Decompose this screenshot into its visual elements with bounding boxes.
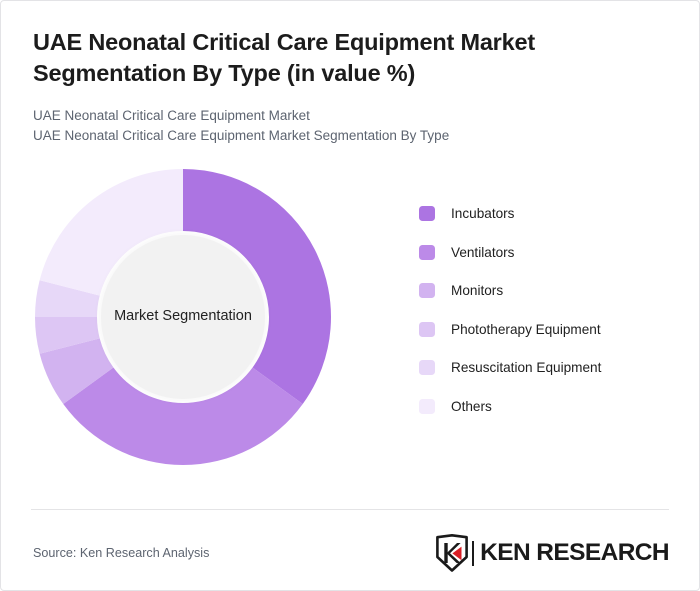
chart-body: Market Segmentation IncubatorsVentilator… (1, 147, 699, 477)
legend-label: Incubators (451, 206, 514, 221)
legend-swatch-icon (419, 206, 435, 221)
legend-item[interactable]: Others (419, 387, 669, 426)
chart-footer: Source: Ken Research Analysis KEN RESEAR… (1, 523, 699, 583)
legend-label: Monitors (451, 283, 503, 298)
logo-separator (472, 541, 474, 566)
legend-swatch-icon (419, 399, 435, 414)
legend-item[interactable]: Incubators (419, 195, 669, 234)
legend-item[interactable]: Ventilators (419, 233, 669, 272)
chart-card: UAE Neonatal Critical Care Equipment Mar… (0, 0, 700, 591)
subtitle-primary: UAE Neonatal Critical Care Equipment Mar… (33, 106, 669, 127)
subtitle-block: UAE Neonatal Critical Care Equipment Mar… (33, 106, 669, 147)
legend-swatch-icon (419, 322, 435, 337)
subtitle-secondary: UAE Neonatal Critical Care Equipment Mar… (33, 126, 669, 147)
legend-swatch-icon (419, 360, 435, 375)
donut-chart: Market Segmentation (33, 167, 333, 467)
source-text: Source: Ken Research Analysis (33, 546, 209, 560)
page-title: UAE Neonatal Critical Care Equipment Mar… (33, 27, 593, 90)
legend-label: Resuscitation Equipment (451, 360, 601, 375)
legend-item[interactable]: Resuscitation Equipment (419, 349, 669, 388)
legend-swatch-icon (419, 245, 435, 260)
legend-label: Phototherapy Equipment (451, 322, 601, 337)
legend-item[interactable]: Phototherapy Equipment (419, 310, 669, 349)
donut-center-label: Market Segmentation (106, 307, 260, 325)
legend-item[interactable]: Monitors (419, 272, 669, 311)
legend-swatch-icon (419, 283, 435, 298)
chart-header: UAE Neonatal Critical Care Equipment Mar… (1, 1, 699, 147)
donut-center-hub: Market Segmentation (101, 235, 265, 399)
legend-label: Others (451, 399, 492, 414)
logo-text: KEN RESEARCH (480, 539, 669, 567)
footer-divider (31, 509, 669, 510)
chart-legend: IncubatorsVentilatorsMonitorsPhototherap… (419, 195, 669, 426)
brand-logo: KEN RESEARCH (435, 534, 669, 572)
ken-research-shield-icon (435, 534, 469, 572)
legend-label: Ventilators (451, 245, 514, 260)
